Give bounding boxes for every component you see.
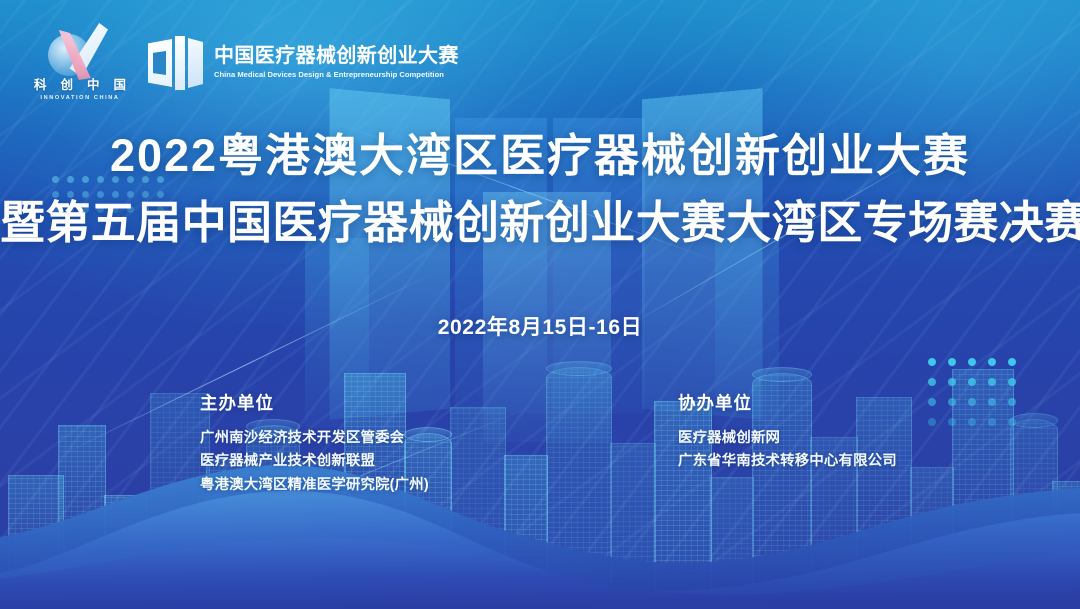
innovation-china-en: INNOVATION CHINA [34,95,126,101]
event-date: 2022年8月15日-16日 [0,311,1080,341]
cmdc-logo-cn: 中国医疗器械创新创业大赛 [214,46,459,67]
logo-char: 中 [87,79,100,93]
cmdc-logo-text: 中国医疗器械创新创业大赛 China Medical Devices Desig… [214,46,459,79]
organizer-host-entry: 医疗器械产业技术创新联盟 [200,450,429,473]
organizer-co-entry: 广东省华南技术转移中心有限公司 [678,450,897,473]
cmdc-door-icon [148,36,203,90]
title-line-2: 暨第五届中国医疗器械创新创业大赛大湾区专场赛决赛 [0,198,1080,248]
organizer-coorganizer: 协办单位 医疗器械创新网 广东省华南技术转移中心有限公司 [678,390,897,474]
logo-char: 创 [60,79,73,93]
main-title-block: 2022粤港澳大湾区医疗器械创新创业大赛 暨第五届中国医疗器械创新创业大赛大湾区… [0,131,1080,249]
organizer-host-entry: 粤港澳大湾区精准医学研究院(广州) [200,474,429,497]
organizer-host-entry: 广州南沙经济技术开发区管委会 [200,427,429,450]
innovation-china-mark-icon [34,24,126,78]
innovation-china-cn: 科 创 中 国 [34,79,126,93]
organizer-co-entry: 医疗器械创新网 [678,427,897,450]
organizer-host: 主办单位 广州南沙经济技术开发区管委会 医疗器械产业技术创新联盟 粤港澳大湾区精… [200,390,429,497]
logo-char: 国 [113,79,126,93]
poster-content: 科 创 中 国 INNOVATION CHINA 中国医疗器械创新创业大赛 Ch… [0,0,1080,609]
poster-root: 科 创 中 国 INNOVATION CHINA 中国医疗器械创新创业大赛 Ch… [0,0,1080,609]
cmdc-logo: 中国医疗器械创新创业大赛 China Medical Devices Desig… [148,36,459,90]
title-line-1: 2022粤港澳大湾区医疗器械创新创业大赛 [0,131,1080,181]
organizer-co-heading: 协办单位 [678,390,897,415]
innovation-china-logo: 科 创 中 国 INNOVATION CHINA [34,24,126,102]
cmdc-logo-en: China Medical Devices Design & Entrepren… [214,70,459,79]
logo-char: 科 [34,79,47,93]
logo-bar: 科 创 中 国 INNOVATION CHINA 中国医疗器械创新创业大赛 Ch… [34,24,459,102]
organizer-host-heading: 主办单位 [200,390,429,415]
